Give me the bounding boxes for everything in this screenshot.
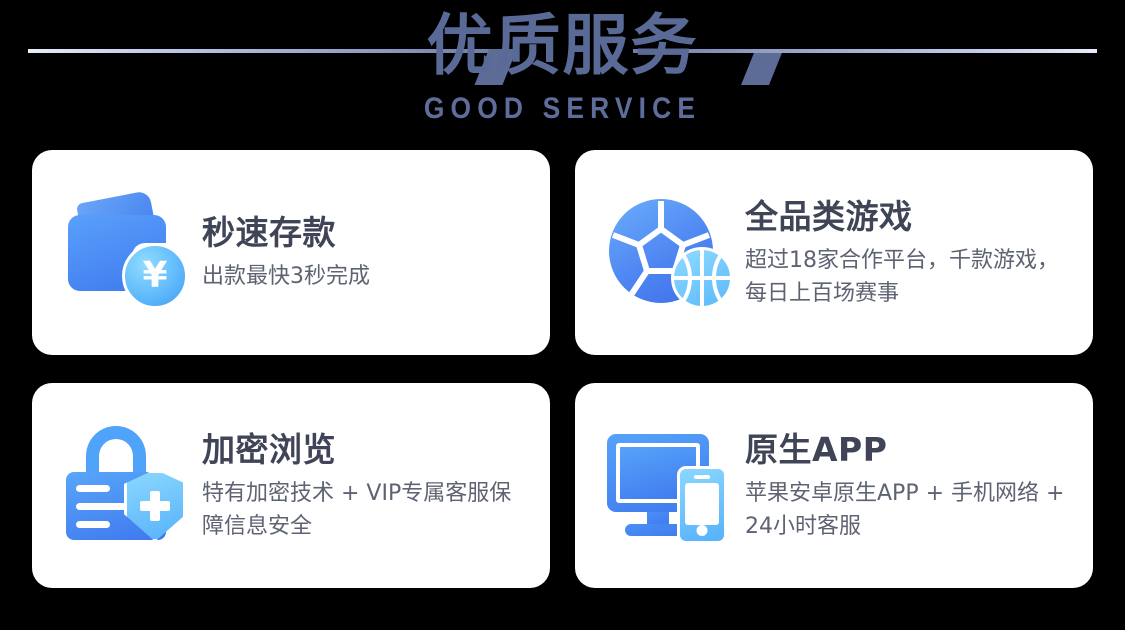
phone-speaker-icon [694, 475, 710, 479]
page-title: 优质服务 [0, 0, 1125, 92]
feature-card-text: 加密浏览 特有加密技术 + VIP专属客服保障信息安全 [194, 429, 532, 543]
feature-card-text: 全品类游戏 超过18家合作平台，千款游戏，每日上百场赛事 [737, 196, 1075, 310]
feature-card-native-app[interactable]: 原生APP 苹果安卓原生APP + 手机网络 + 24小时客服 [575, 383, 1093, 588]
feature-card-encryption[interactable]: 加密浏览 特有加密技术 + VIP专属客服保障信息安全 [32, 383, 550, 588]
feature-card-games[interactable]: 全品类游戏 超过18家合作平台，千款游戏，每日上百场赛事 [575, 150, 1093, 355]
basketball-icon [671, 247, 733, 309]
feature-card-title: 全品类游戏 [745, 196, 1075, 238]
feature-card-text: 原生APP 苹果安卓原生APP + 手机网络 + 24小时客服 [737, 429, 1075, 543]
phone-screen-icon [685, 483, 719, 525]
monitor-phone-icon [605, 420, 737, 552]
feature-card-title: 加密浏览 [202, 429, 532, 471]
phone-icon [677, 466, 727, 544]
section-header: 优质服务 GOOD SERVICE [0, 0, 1125, 150]
phone-home-button-icon [697, 525, 708, 536]
soccer-basketball-icon [605, 187, 737, 319]
lock-shield-icon [62, 420, 194, 552]
feature-card-grid: ¥ 秒速存款 出款最快3秒完成 [32, 150, 1093, 588]
header-titles: 优质服务 GOOD SERVICE [0, 0, 1125, 128]
feature-card-title: 原生APP [745, 429, 1075, 471]
feature-card-text: 秒速存款 出款最快3秒完成 [194, 212, 532, 293]
yen-coin-icon: ¥ [122, 243, 188, 309]
feature-card-desc: 特有加密技术 + VIP专属客服保障信息安全 [202, 477, 532, 543]
page-subtitle: GOOD SERVICE [68, 90, 1058, 128]
wallet-yen-icon: ¥ [62, 187, 194, 319]
feature-card-desc: 超过18家合作平台，千款游戏，每日上百场赛事 [745, 244, 1075, 310]
feature-card-deposit[interactable]: ¥ 秒速存款 出款最快3秒完成 [32, 150, 550, 355]
feature-card-desc: 出款最快3秒完成 [202, 260, 532, 293]
feature-card-title: 秒速存款 [202, 212, 532, 254]
feature-card-desc: 苹果安卓原生APP + 手机网络 + 24小时客服 [745, 477, 1075, 543]
